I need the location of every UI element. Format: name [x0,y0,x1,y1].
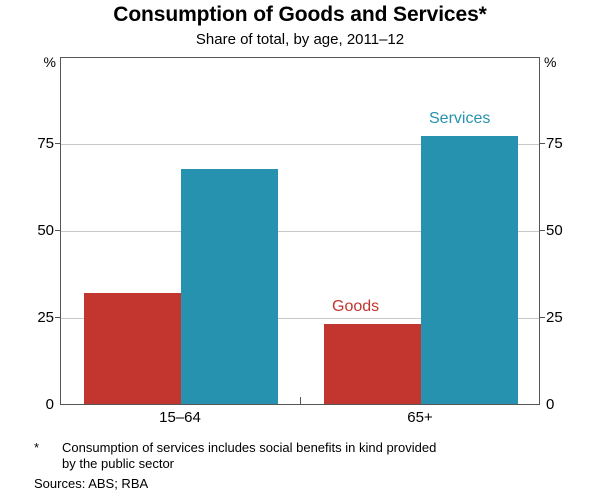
footnote-line-1: * Consumption of services includes socia… [34,440,574,456]
plot-area: ServicesGoods [60,57,540,405]
y-tick-mark-right [540,230,545,231]
y-tick-mark-right [540,317,545,318]
x-tick-label-65: 65+ [300,409,540,426]
chart-title: Consumption of Goods and Services* [0,3,600,27]
x-tick-label-1564: 15–64 [60,409,300,426]
y-axis-unit-left: % [34,54,56,70]
bar-services-65[interactable] [421,136,518,404]
y-tick-label-right-75: 75 [546,136,596,151]
y-tick-mark-left [55,317,60,318]
chart-subtitle: Share of total, by age, 2011–12 [0,31,600,48]
chart-container: Consumption of Goods and Services* Share… [0,0,600,497]
x-axis-group-divider [300,397,301,405]
footnote-text-line-2: by the public sector [62,456,574,472]
y-tick-label-left-0: 0 [4,397,54,412]
series-label-goods: Goods [332,298,379,316]
y-tick-label-right-25: 25 [546,310,596,325]
sources-text: Sources: ABS; RBA [34,476,574,492]
footnote-line-2: by the public sector [34,456,574,472]
footnote-marker: * [34,440,62,456]
y-tick-label-left-75: 75 [4,136,54,151]
bar-services-1564[interactable] [181,169,278,404]
series-label-services: Services [429,110,490,128]
y-tick-mark-left [55,230,60,231]
bar-goods-65[interactable] [324,324,421,404]
footnote-text-line-1: Consumption of services includes social … [62,440,574,456]
footnote-block: * Consumption of services includes socia… [34,440,574,492]
y-tick-label-left-50: 50 [4,223,54,238]
y-tick-mark-left [55,143,60,144]
y-axis-unit-right: % [544,54,566,70]
y-tick-mark-right [540,143,545,144]
bar-goods-1564[interactable] [84,293,181,404]
y-tick-label-right-50: 50 [546,223,596,238]
y-tick-label-right-0: 0 [546,397,596,412]
y-tick-label-left-25: 25 [4,310,54,325]
